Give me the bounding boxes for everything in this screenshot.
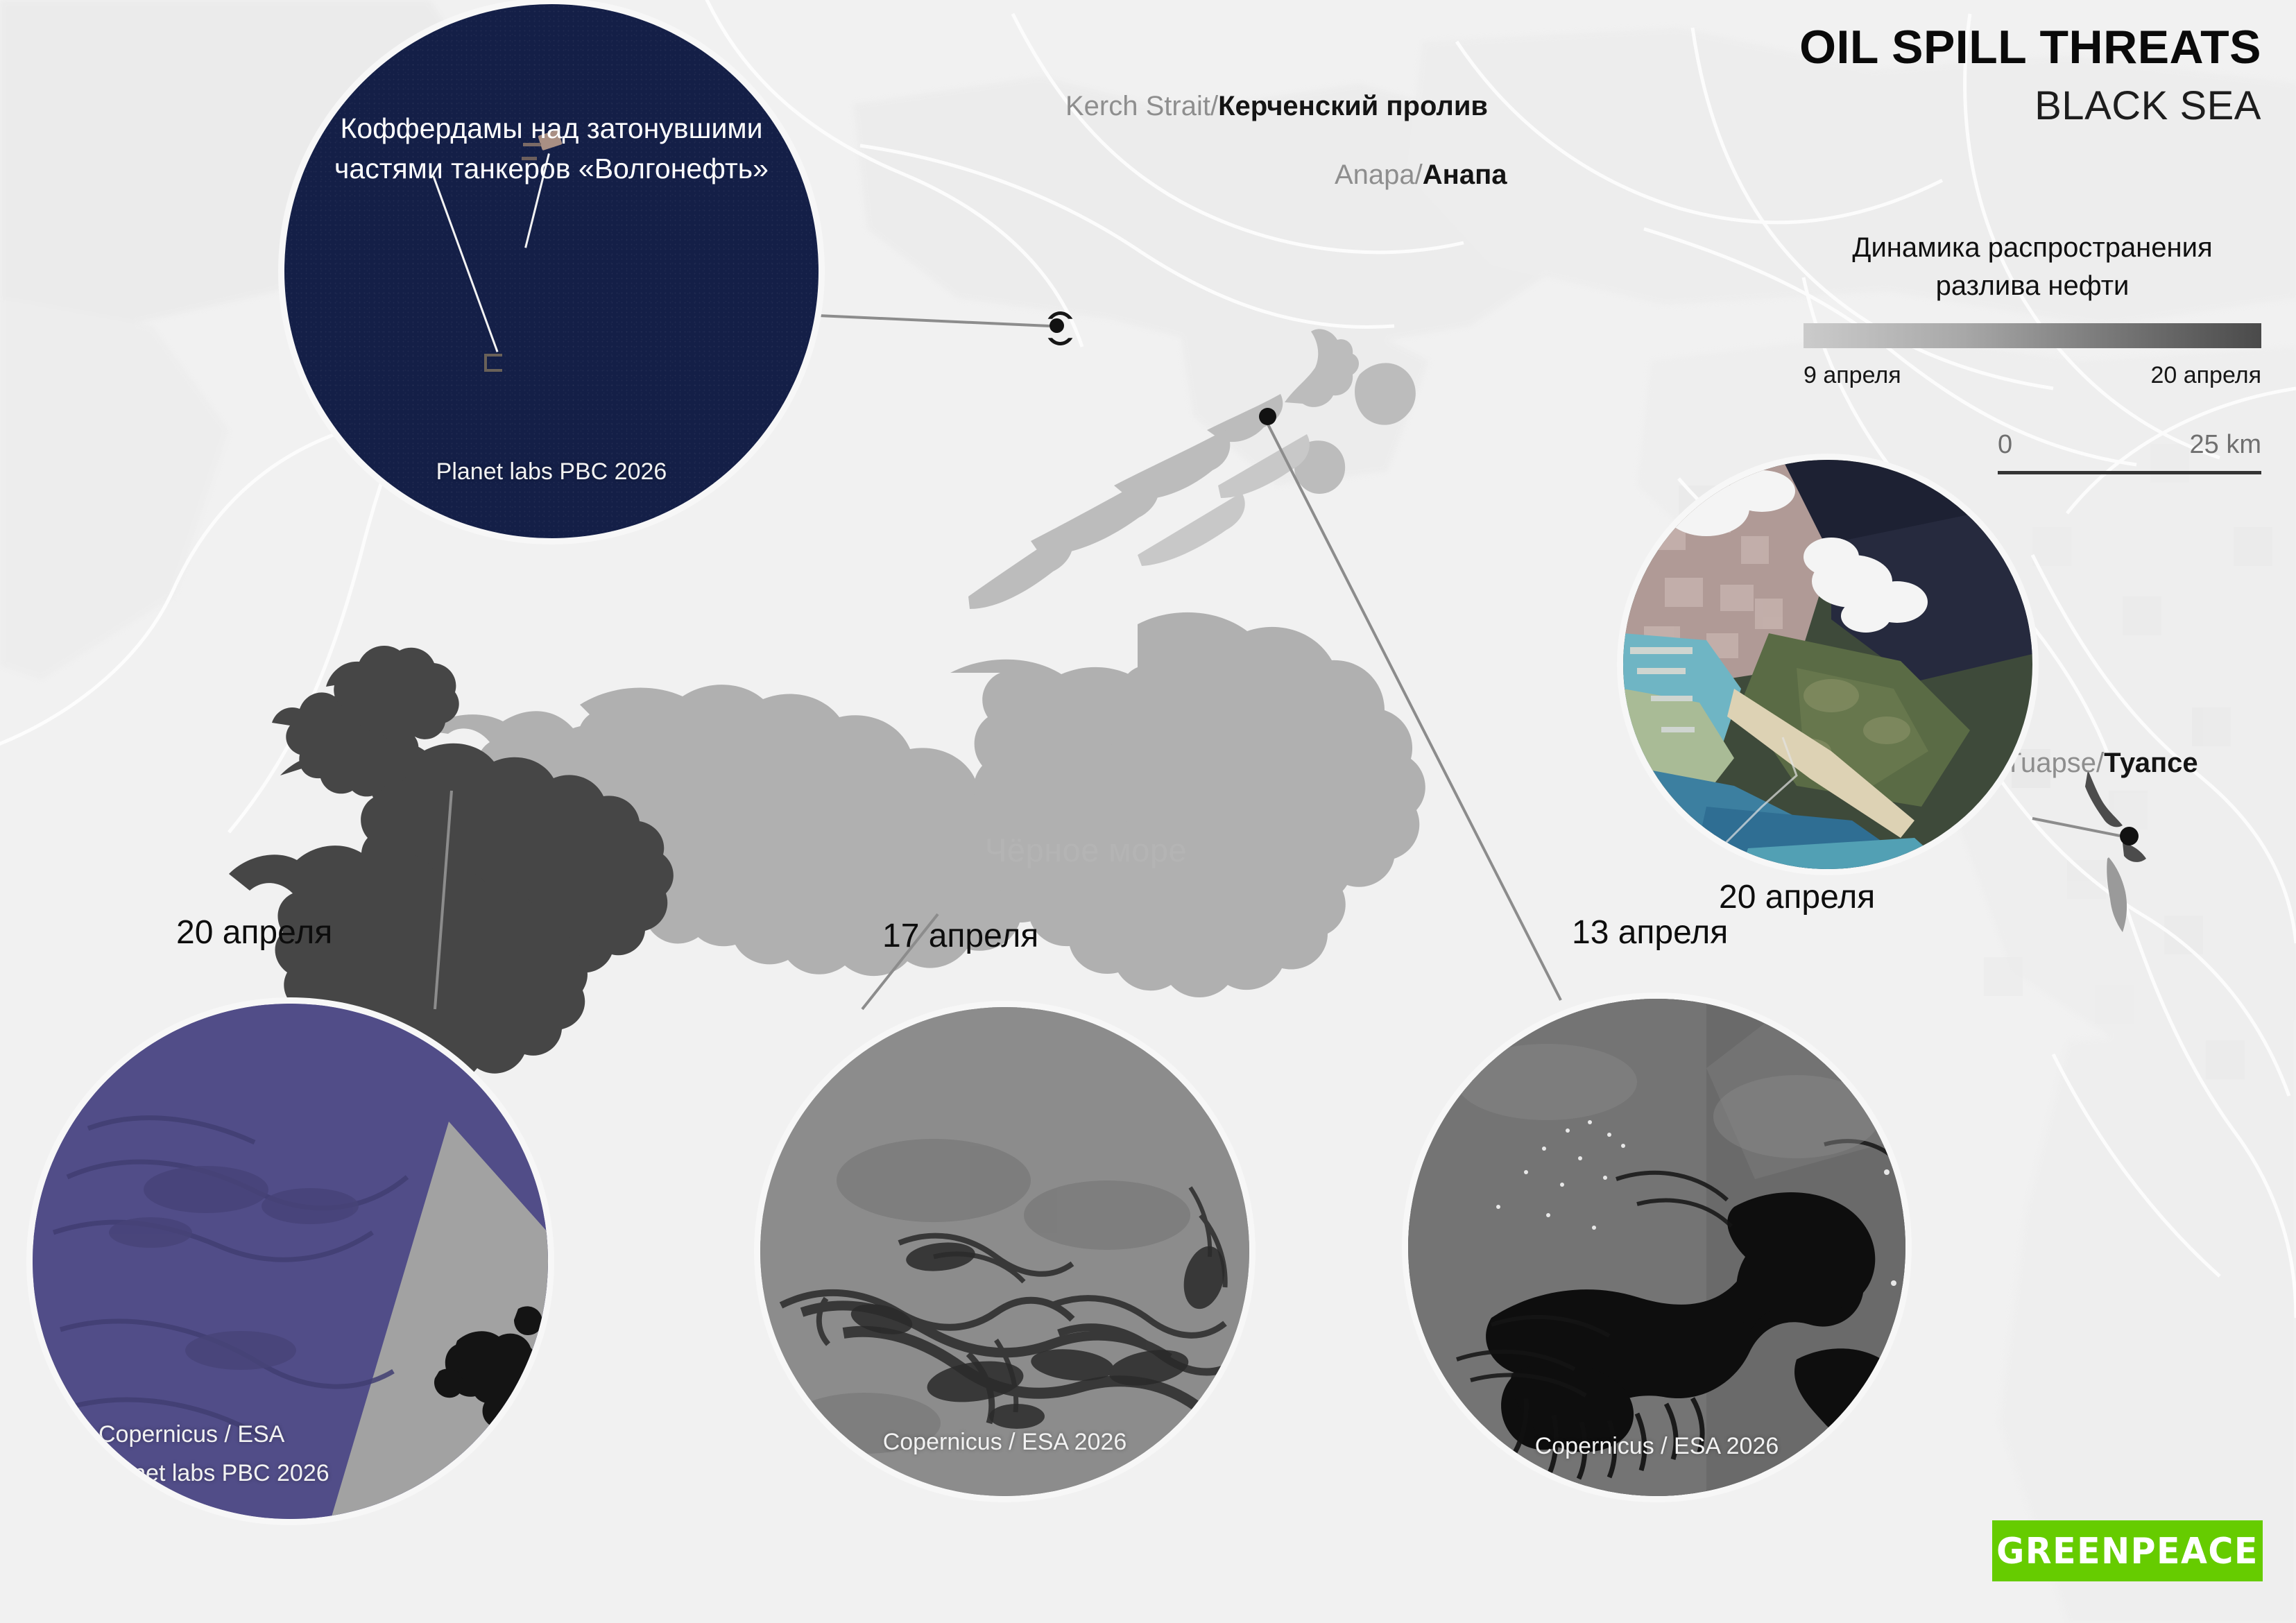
infographic-canvas: Коффердамы над затонувшими частями танке… — [0, 0, 2296, 1623]
greenpeace-logo-text: GREENPEACE — [1996, 1530, 2259, 1572]
legend-start-label: 9 апреля — [1804, 362, 1901, 389]
place-label-anapa-sep: / — [1415, 160, 1423, 190]
inset-tuapse-caption: 20 апреля — [1719, 878, 1875, 916]
kerch-marker-dot[interactable] — [1050, 318, 1064, 333]
place-label-anapa-en: Anapa — [1335, 160, 1415, 190]
place-label-kerch-sep: / — [1210, 91, 1218, 121]
place-label-kerch-strait: Kerch Strait/Керченский пролив — [1065, 92, 1488, 120]
cofferdam-marker-lower — [484, 354, 502, 372]
inset-april20-credit-line1: Copernicus / ESA — [98, 1417, 284, 1452]
place-label-tuapse: Tuapse/Туапсе — [2005, 749, 2198, 777]
place-label-anapa-ru: Анапа — [1423, 160, 1507, 190]
inset-april20-credit-line2: Planet labs PBC 2026 — [98, 1456, 329, 1491]
inset-april17-caption: 17 апреля — [882, 917, 1038, 955]
inset-april13-image[interactable]: Copernicus / ESA 2026 — [1408, 999, 1905, 1496]
legend: Динамика распространения разлива нефти 9… — [1804, 229, 2261, 389]
inset-kerch-title: Коффердамы над затонувшими частями танке… — [314, 108, 789, 189]
legend-end-label: 20 апреля — [2150, 362, 2261, 389]
scale-bar-numbers: 0 25 km — [1998, 430, 2261, 460]
place-label-anapa: Anapa/Анапа — [1335, 161, 1507, 189]
place-label-tuapse-ru: Туапсе — [2104, 748, 2198, 778]
inset-kerch-credit: Planet labs PBC 2026 — [284, 454, 819, 490]
inset-april20-caption: 20 апреля — [176, 913, 332, 952]
legend-title-line1: Динамика распространения — [1804, 229, 2261, 267]
inset-april20-image[interactable]: Copernicus / ESA Planet labs PBC 2026 — [33, 1004, 548, 1519]
page-subtitle: BLACK SEA — [1799, 86, 2261, 126]
inset-april13-caption: 13 апреля — [1572, 913, 1728, 952]
header: OIL SPILL THREATS BLACK SEA — [1799, 24, 2261, 126]
place-label-kerch-en: Kerch Strait — [1065, 91, 1210, 121]
april13-sar-image — [1408, 999, 1905, 1496]
place-label-tuapse-sep: / — [2096, 748, 2104, 778]
place-label-kerch-ru: Керченский пролив — [1218, 91, 1488, 121]
inset-april17-image[interactable]: Copernicus / ESA 2026 — [760, 1007, 1249, 1496]
page-title: OIL SPILL THREATS — [1799, 24, 2261, 71]
april17-sar-image — [760, 1007, 1249, 1496]
scale-bar-zero: 0 — [1998, 430, 2012, 460]
inset-kerch-cofferdams[interactable]: Коффердамы над затонувшими частями танке… — [284, 4, 819, 538]
legend-title-line2: разлива нефти — [1804, 267, 2261, 305]
scale-bar-rule — [1998, 471, 2261, 474]
sea-label-black-sea: Чёрное море — [985, 831, 1187, 869]
anapa-marker-dot[interactable] — [1259, 408, 1276, 425]
scale-bar: 0 25 km — [1998, 430, 2261, 474]
tuapse-marker-dot[interactable] — [2120, 827, 2139, 845]
scale-bar-max: 25 km — [2190, 430, 2261, 460]
legend-gradient-bar — [1804, 323, 2261, 348]
inset-april13-credit: Copernicus / ESA 2026 — [1408, 1429, 1905, 1464]
greenpeace-logo[interactable]: GREENPEACE — [1992, 1520, 2263, 1581]
tuapse-satellite-image — [1623, 460, 2032, 869]
legend-endpoints: 9 апреля 20 апреля — [1804, 362, 2261, 389]
inset-april17-credit: Copernicus / ESA 2026 — [760, 1425, 1249, 1460]
legend-title: Динамика распространения разлива нефти — [1804, 229, 2261, 305]
inset-tuapse-image[interactable] — [1623, 460, 2032, 869]
